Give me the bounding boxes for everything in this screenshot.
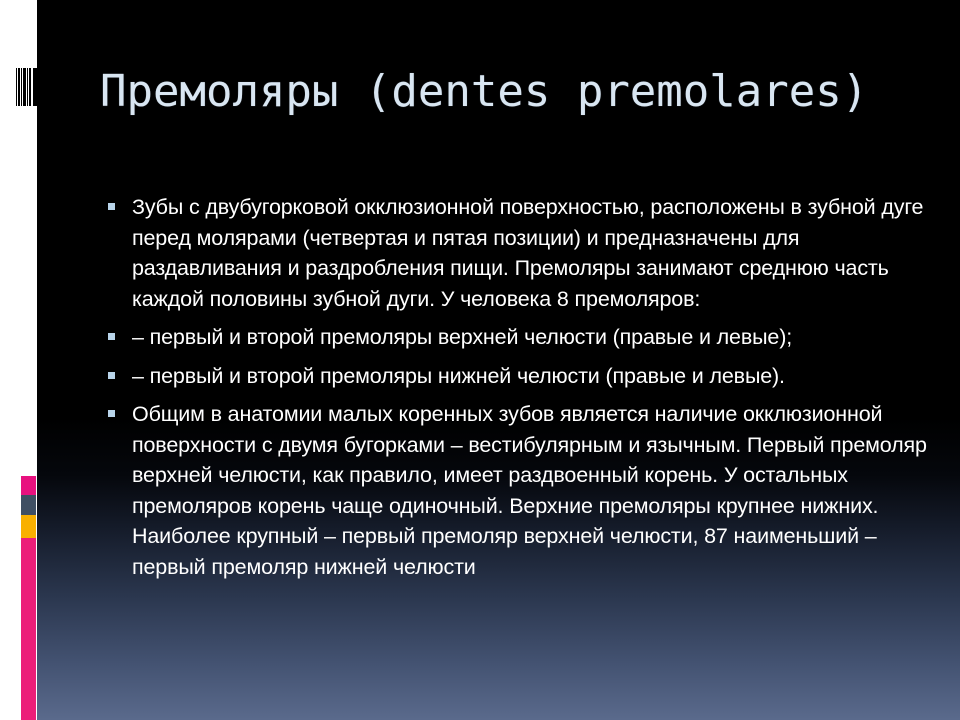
slide-title: Премоляры (dentes premolares): [100, 63, 940, 121]
barcode-bar: [21, 68, 22, 106]
bullet-marker-icon: [108, 203, 115, 210]
bullet-text: – первый и второй премоляры нижней челюс…: [132, 361, 952, 392]
bullet-item-upper-jaw: – первый и второй премоляры верхней челю…: [96, 322, 952, 353]
barcode-bar: [16, 68, 17, 106]
bullet-text: – первый и второй премоляры верхней челю…: [132, 322, 952, 353]
barcode-decoration-icon: [16, 68, 37, 106]
barcode-bar: [29, 68, 31, 106]
barcode-bar: [18, 68, 20, 106]
bullet-marker-icon: [108, 410, 115, 417]
barcode-bar: [33, 68, 37, 106]
presentation-slide: Премоляры (dentes premolares) Зубы с дву…: [0, 0, 960, 720]
chip-amber: [21, 515, 36, 538]
bullet-text: Общим в анатомии малых коренных зубов яв…: [132, 399, 952, 582]
chip-pink: [21, 476, 36, 495]
bullet-item-definition: Зубы с двубугорковой окклюзионной поверх…: [96, 192, 952, 314]
color-chip-stack: [21, 476, 36, 720]
bullet-item-lower-jaw: – первый и второй премоляры нижней челюс…: [96, 361, 952, 392]
bullet-list: Зубы с двубугорковой окклюзионной поверх…: [96, 192, 952, 584]
bullet-marker-icon: [108, 372, 115, 379]
chip-magenta: [21, 538, 36, 720]
bullet-text: Зубы с двубугорковой окклюзионной поверх…: [132, 192, 952, 314]
bullet-marker-icon: [108, 333, 115, 340]
chip-slate: [21, 495, 36, 515]
bullet-item-anatomy: Общим в анатомии малых коренных зубов яв…: [96, 399, 952, 582]
barcode-bar: [23, 68, 26, 106]
slide-content: Премоляры (dentes premolares) Зубы с дву…: [96, 0, 952, 720]
barcode-bar: [27, 68, 28, 106]
